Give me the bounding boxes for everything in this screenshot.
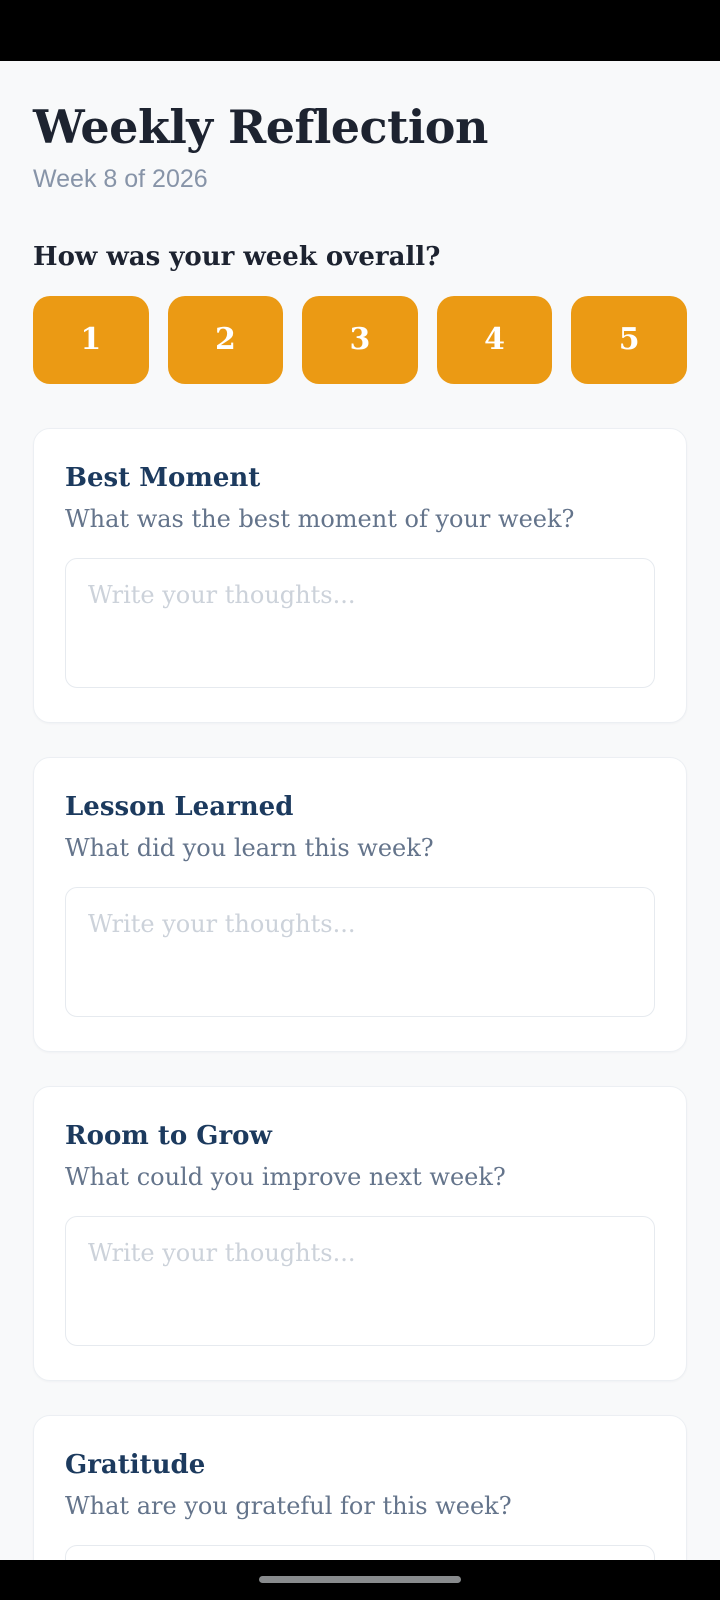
mood-rating-button-2[interactable]: 2 — [168, 296, 284, 384]
prompt-card-lesson-learned: Lesson Learned What did you learn this w… — [33, 757, 687, 1052]
prompt-card-gratitude: Gratitude What are you grateful for this… — [33, 1415, 687, 1560]
mood-rating-label-5: 5 — [619, 325, 640, 355]
mood-rating-label-2: 2 — [215, 325, 236, 355]
mood-rating-button-1[interactable]: 1 — [33, 296, 149, 384]
home-indicator[interactable] — [259, 1576, 461, 1583]
phone-screen: Weekly Reflection Week 8 of 2026 How was… — [0, 0, 720, 1600]
mood-rating-group: 1 2 3 4 5 — [33, 296, 687, 384]
mood-rating-button-3[interactable]: 3 — [302, 296, 418, 384]
prompt-card-question: What could you improve next week? — [65, 1162, 655, 1192]
prompt-card-title: Gratitude — [65, 1450, 655, 1481]
mood-rating-label-1: 1 — [80, 325, 101, 355]
prompt-card-room-to-grow: Room to Grow What could you improve next… — [33, 1086, 687, 1381]
mood-rating-label-3: 3 — [350, 325, 371, 355]
mood-rating-label-4: 4 — [484, 325, 505, 355]
prompt-card-question: What are you grateful for this week? — [65, 1491, 655, 1521]
prompt-card-question: What did you learn this week? — [65, 833, 655, 863]
scroll-container[interactable]: Weekly Reflection Week 8 of 2026 How was… — [0, 99, 720, 1560]
prompt-card-best-moment: Best Moment What was the best moment of … — [33, 428, 687, 723]
week-subtitle: Week 8 of 2026 — [33, 164, 687, 194]
mood-rating-button-4[interactable]: 4 — [437, 296, 553, 384]
prompt-card-textarea[interactable] — [65, 887, 655, 1017]
prompt-card-title: Lesson Learned — [65, 792, 655, 823]
page-title: Weekly Reflection — [33, 99, 687, 155]
mood-rating-button-5[interactable]: 5 — [571, 296, 687, 384]
system-navigation-bar — [0, 1560, 720, 1600]
mood-question-label: How was your week overall? — [33, 241, 687, 273]
prompt-card-textarea[interactable] — [65, 1216, 655, 1346]
prompt-card-textarea[interactable] — [65, 1545, 655, 1560]
prompt-card-question: What was the best moment of your week? — [65, 504, 655, 534]
prompt-card-title: Room to Grow — [65, 1121, 655, 1152]
prompt-card-textarea[interactable] — [65, 558, 655, 688]
system-status-bar — [0, 0, 720, 61]
prompt-card-list: Best Moment What was the best moment of … — [33, 428, 687, 1560]
prompt-card-title: Best Moment — [65, 463, 655, 494]
app-viewport: Weekly Reflection Week 8 of 2026 How was… — [0, 61, 720, 1560]
